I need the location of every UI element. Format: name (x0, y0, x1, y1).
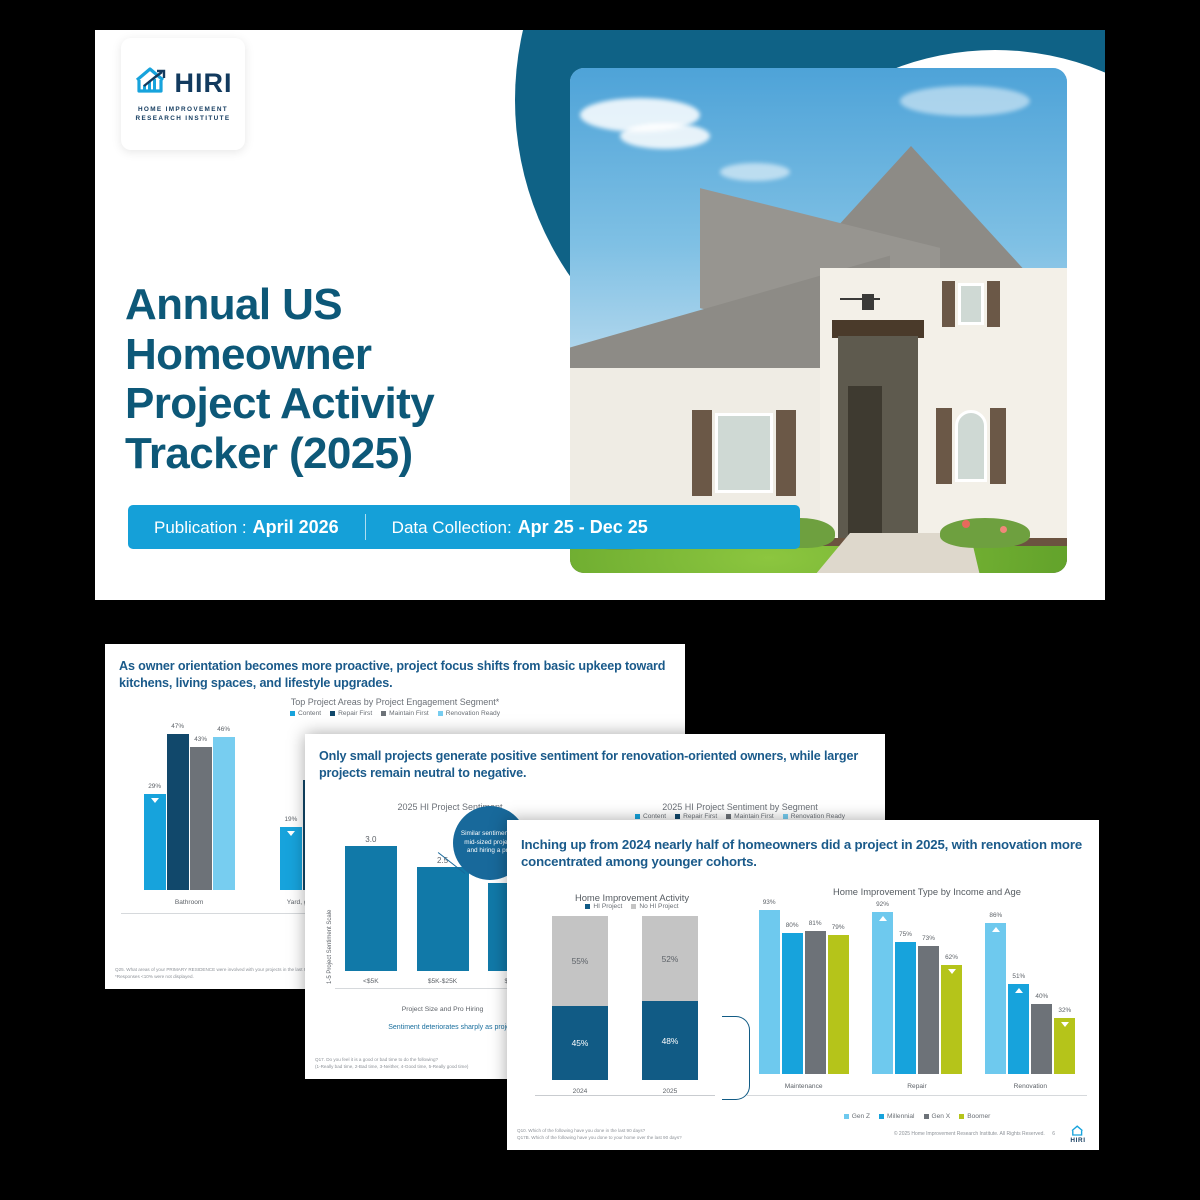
publication-label: Publication : (154, 518, 247, 538)
title-line-4: Tracker (2025) (125, 429, 434, 479)
hiri-logo-card: HIRI HOME IMPROVEMENT RESEARCH INSTITUTE (121, 38, 245, 150)
legend-label: Renovation Ready (446, 710, 500, 717)
legend-item-gen-x: Gen X (924, 1113, 951, 1120)
slide-1-headline: As owner orientation becomes more proact… (105, 644, 685, 691)
bar: 3.0 (345, 846, 397, 971)
title-line-3: Project Activity (125, 379, 434, 429)
legend-item-millennial: Millennial (879, 1113, 915, 1120)
publication-segment: Publication : April 2026 (128, 517, 365, 538)
bar-value-label: 51% (1012, 973, 1025, 980)
slide-2-headline: Only small projects generate positive se… (305, 734, 885, 781)
bar-value-label: 79% (832, 924, 845, 931)
slide-3-logo: HIRI (1065, 1125, 1091, 1144)
legend-label: Content (643, 813, 666, 820)
bar: 19% (280, 827, 302, 890)
slide-hi-activity[interactable]: Inching up from 2024 nearly half of home… (507, 820, 1099, 1150)
bar-value-label: 43% (194, 736, 207, 743)
stacked-bar: 52%48% (642, 916, 698, 1080)
bar-value-label: 93% (763, 899, 776, 906)
trend-up-icon (879, 916, 887, 921)
legend-label: Repair First (338, 710, 372, 717)
legend-label: Renovation Ready (791, 813, 845, 820)
legend-item-repair-first: Repair First (330, 710, 372, 717)
legend-label: HI Project (593, 903, 622, 910)
logo-subtitle-line1: HOME IMPROVEMENT (138, 106, 228, 113)
bar-value-label: 32% (1058, 1007, 1071, 1014)
slide-3-stacked-bar-chart: 55%45%202452%48%2025 (535, 916, 715, 1096)
trend-down-icon (151, 798, 159, 803)
slide-3-right-legend: Gen Z Millennial Gen X Boomer (757, 1113, 1077, 1120)
slide-1-chart-title: Top Project Areas by Project Engagement … (105, 697, 685, 707)
segment-no-hi-project: 55% (552, 916, 608, 1006)
legend-label: Content (298, 710, 321, 717)
bar-value-label: 81% (809, 920, 822, 927)
bar: 46% (213, 737, 235, 890)
bar: 92% (872, 912, 893, 1074)
footnote-line-1: Q17. Do you feel it is a good or bad tim… (315, 1057, 468, 1064)
category-label: <$5K (335, 978, 407, 986)
suburban-house-photo (570, 68, 1067, 573)
page-number: 6 (1052, 1131, 1055, 1137)
legend-label: Gen Z (852, 1113, 870, 1120)
logo-subtitle-line2: RESEARCH INSTITUTE (136, 115, 231, 122)
slide-3-left-legend: HI Project No HI Project (517, 903, 747, 910)
footnote-line-2: (1-Really bad time, 2-Bad time, 3-Neithe… (315, 1064, 468, 1071)
footnote-line-2: Q17B. Which of the following have you do… (517, 1135, 682, 1142)
slide-2-footnotes: Q17. Do you feel it is a good or bad tim… (315, 1057, 468, 1071)
category-label: Maintenance (747, 1083, 860, 1091)
bar: 40% (1031, 1004, 1052, 1074)
legend-item-content: Content (290, 710, 321, 717)
publication-info-bar: Publication : April 2026 Data Collection… (128, 505, 800, 549)
bar-value-label: 29% (148, 783, 161, 790)
legend-item-maintain-first: Maintain First (726, 813, 774, 820)
trend-down-icon (287, 831, 295, 836)
slide-2-y-axis-label: 1-5 Project Sentiment Scale (327, 910, 333, 984)
slide-3-footnotes: Q10. Which of the following have you don… (517, 1128, 682, 1142)
legend-label: No HI Project (639, 903, 678, 910)
slide-3-brace (722, 1016, 750, 1100)
bar: 32% (1054, 1018, 1075, 1074)
trend-down-icon (1061, 1022, 1069, 1027)
legend-item-boomer: Boomer (959, 1113, 990, 1120)
legend-label: Boomer (967, 1113, 990, 1120)
bar-value-label: 40% (1035, 993, 1048, 1000)
legend-item-renovation-ready: Renovation Ready (438, 710, 500, 717)
trend-up-icon (992, 927, 1000, 932)
category-label: 2024 (535, 1088, 625, 1096)
copyright-text: © 2025 Home Improvement Research Institu… (894, 1131, 1045, 1137)
bar-value-label: 47% (171, 723, 184, 730)
bar: 51% (1008, 984, 1029, 1074)
slide-3-right-chart-title: Home Improvement Type by Income and Age (767, 886, 1087, 897)
stacked-bar: 55%45% (552, 916, 608, 1080)
legend-label: Maintain First (389, 710, 429, 717)
category-label: Bathroom (121, 899, 257, 907)
segment-no-hi-project: 52% (642, 916, 698, 1001)
slide-2-right-chart-title: 2025 HI Project Sentiment by Segment (595, 802, 885, 812)
trend-down-icon (948, 969, 956, 974)
title-slide: HIRI HOME IMPROVEMENT RESEARCH INSTITUTE… (95, 30, 1105, 600)
legend-item-renovation-ready: Renovation Ready (783, 813, 845, 820)
category-label: Renovation (974, 1083, 1087, 1091)
segment-hi-project: 48% (642, 1001, 698, 1080)
legend-label: Maintain First (734, 813, 774, 820)
publication-value: April 2026 (253, 517, 339, 538)
slide-3-copyright: © 2025 Home Improvement Research Institu… (894, 1131, 1055, 1137)
legend-item-gen-z: Gen Z (844, 1113, 870, 1120)
logo-wordmark: HIRI (175, 68, 233, 99)
bar-value-label: 3.0 (365, 835, 376, 844)
data-collection-value: Apr 25 - Dec 25 (518, 517, 648, 538)
bar: 2.5 (417, 867, 469, 971)
bar-value-label: 86% (989, 912, 1002, 919)
legend-item-content: Content (635, 813, 666, 820)
category-label: Repair (860, 1083, 973, 1091)
slide-2-right-legend: Content Repair First Maintain First Reno… (595, 813, 885, 820)
screenshot-root: HIRI HOME IMPROVEMENT RESEARCH INSTITUTE… (0, 0, 1200, 1200)
bar-value-label: 73% (922, 935, 935, 942)
legend-label: Gen X (932, 1113, 951, 1120)
bar-value-label: 19% (284, 816, 297, 823)
footnote-line-2: *Responses <10% were not displayed. (115, 974, 322, 981)
footnote-line-1: Q10. Which of the following have you don… (517, 1128, 682, 1135)
bar: 93% (759, 910, 780, 1074)
bar: 73% (918, 946, 939, 1074)
bar: 81% (805, 931, 826, 1074)
slide-3-headline: Inching up from 2024 nearly half of home… (507, 820, 1099, 871)
data-collection-label: Data Collection: (392, 518, 512, 538)
legend-item-repair-first: Repair First (675, 813, 717, 820)
trend-up-icon (1015, 988, 1023, 993)
bar: 47% (167, 734, 189, 890)
slide-1-legend: Content Repair First Maintain First Reno… (105, 710, 685, 717)
slide-2-left-chart-title: 2025 HI Project Sentiment (305, 802, 595, 812)
legend-label: Millennial (887, 1113, 915, 1120)
bar: 29% (144, 794, 166, 890)
bar: 43% (190, 747, 212, 890)
house-chart-logo-icon (134, 66, 170, 101)
bar: 80% (782, 933, 803, 1074)
category-label: $5K-$25K (407, 978, 479, 986)
bar-value-label: 80% (786, 922, 799, 929)
bar: 86% (985, 923, 1006, 1074)
bar-value-label: 92% (876, 901, 889, 908)
title-line-1: Annual US (125, 280, 434, 330)
bar: 79% (828, 935, 849, 1074)
slide-1-footnotes: Q25. What areas of your PRIMARY RESIDENC… (115, 967, 322, 981)
slide-3-grouped-bar-chart: 93%80%81%79%Maintenance92%75%73%62%Repai… (747, 898, 1087, 1096)
legend-item-hi-project: HI Project (585, 903, 622, 910)
title-line-2: Homeowner (125, 330, 434, 380)
footnote-line-1: Q25. What areas of your PRIMARY RESIDENC… (115, 967, 322, 974)
bar: 75% (895, 942, 916, 1074)
segment-hi-project: 45% (552, 1006, 608, 1080)
bar: 62% (941, 965, 962, 1074)
bar-value-label: 62% (945, 954, 958, 961)
legend-item-no-hi-project: No HI Project (631, 903, 678, 910)
page-title: Annual US Homeowner Project Activity Tra… (125, 280, 434, 479)
slide-3-left-chart-title: Home Improvement Activity (517, 892, 747, 903)
category-label: 2025 (625, 1088, 715, 1096)
legend-label: Repair First (683, 813, 717, 820)
bar-value-label: 75% (899, 931, 912, 938)
legend-item-maintain-first: Maintain First (381, 710, 429, 717)
bar-value-label: 46% (217, 726, 230, 733)
data-collection-segment: Data Collection: Apr 25 - Dec 25 (366, 517, 674, 538)
logo-wordmark: HIRI (1065, 1137, 1091, 1144)
